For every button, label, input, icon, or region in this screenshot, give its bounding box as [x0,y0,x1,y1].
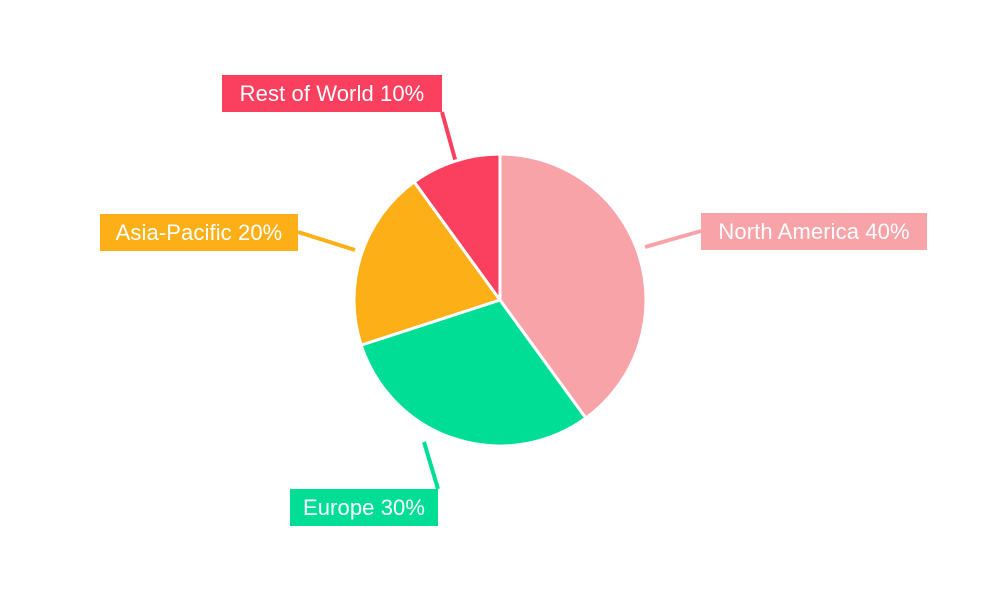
slice-label[interactable]: North America 40% [701,213,927,250]
slice-label[interactable]: Rest of World 10% [222,75,442,112]
slice-label[interactable]: Asia-Pacific 20% [100,214,298,251]
leader-line [298,232,355,250]
leader-line [424,442,438,489]
pie-slices-group [354,154,646,446]
slice-label[interactable]: Europe 30% [290,489,438,526]
leader-line [645,231,701,247]
pie-chart: North America 40%Europe 30%Asia-Pacific … [0,0,1000,600]
pie-chart-canvas [0,0,1000,600]
